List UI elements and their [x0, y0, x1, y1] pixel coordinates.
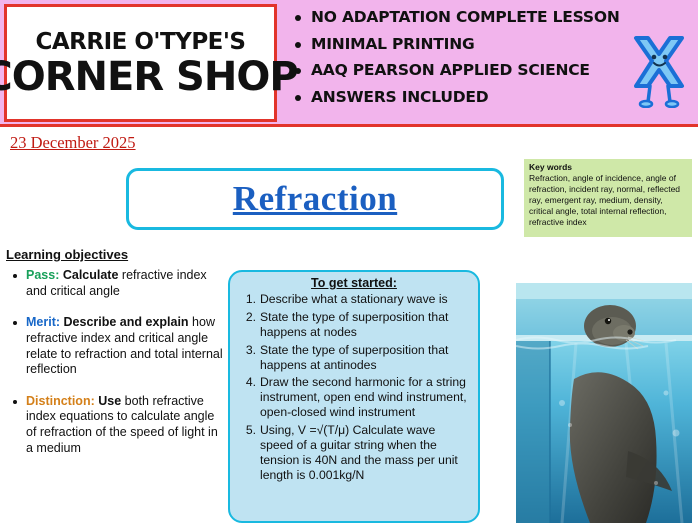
objective-bold-merit: Describe and explain [64, 315, 189, 329]
page-title: Refraction [233, 179, 397, 219]
key-words-body: Refraction, angle of incidence, angle of… [529, 173, 687, 228]
objective-grade-distinction: Distinction: [26, 394, 95, 408]
brand-logo-box: CARRIE O'TYPE'S CORNER SHOP [4, 4, 277, 122]
starter-question: State the type of superposition that hap… [260, 310, 470, 340]
seal-underwater-photo [516, 283, 692, 523]
to-get-started-list: Describe what a stationary wave is State… [236, 292, 472, 483]
key-words-box: Key words Refraction, angle of incidence… [524, 159, 692, 237]
brand-line-2: CORNER SHOP [0, 57, 298, 97]
starter-question: Using, V =√(T/μ) Calculate wave speed of… [260, 423, 470, 483]
learning-objective-pass: Pass: Calculate refractive index and cri… [6, 268, 224, 299]
to-get-started-title: To get started: [236, 276, 472, 290]
starter-question: Draw the second harmonic for a string in… [260, 375, 470, 420]
blue-x-character-icon [628, 30, 690, 108]
brand-line-1: CARRIE O'TYPE'S [36, 29, 246, 55]
objective-grade-pass: Pass: [26, 268, 59, 282]
objective-grade-merit: Merit: [26, 315, 60, 329]
to-get-started-box: To get started: Describe what a stationa… [228, 270, 480, 523]
lesson-date: 23 December 2025 [10, 133, 136, 153]
lesson-title-box: Refraction [126, 168, 504, 230]
header-banner: CARRIE O'TYPE'S CORNER SHOP NO ADAPTATIO… [0, 0, 698, 127]
objective-bold-pass: Calculate [63, 268, 119, 282]
learning-objective-merit: Merit: Describe and explain how refracti… [6, 315, 224, 378]
starter-question: Describe what a stationary wave is [260, 292, 470, 307]
key-words-heading: Key words [529, 162, 687, 173]
learning-objectives-heading: Learning objectives [6, 247, 128, 262]
objective-bold-distinction: Use [98, 394, 121, 408]
learning-objectives-list: Pass: Calculate refractive index and cri… [6, 268, 224, 472]
banner-bullet: NO ADAPTATION COMPLETE LESSON [295, 10, 698, 26]
starter-question: State the type of superposition that hap… [260, 343, 470, 373]
learning-objective-distinction: Distinction: Use both refractive index e… [6, 394, 224, 457]
